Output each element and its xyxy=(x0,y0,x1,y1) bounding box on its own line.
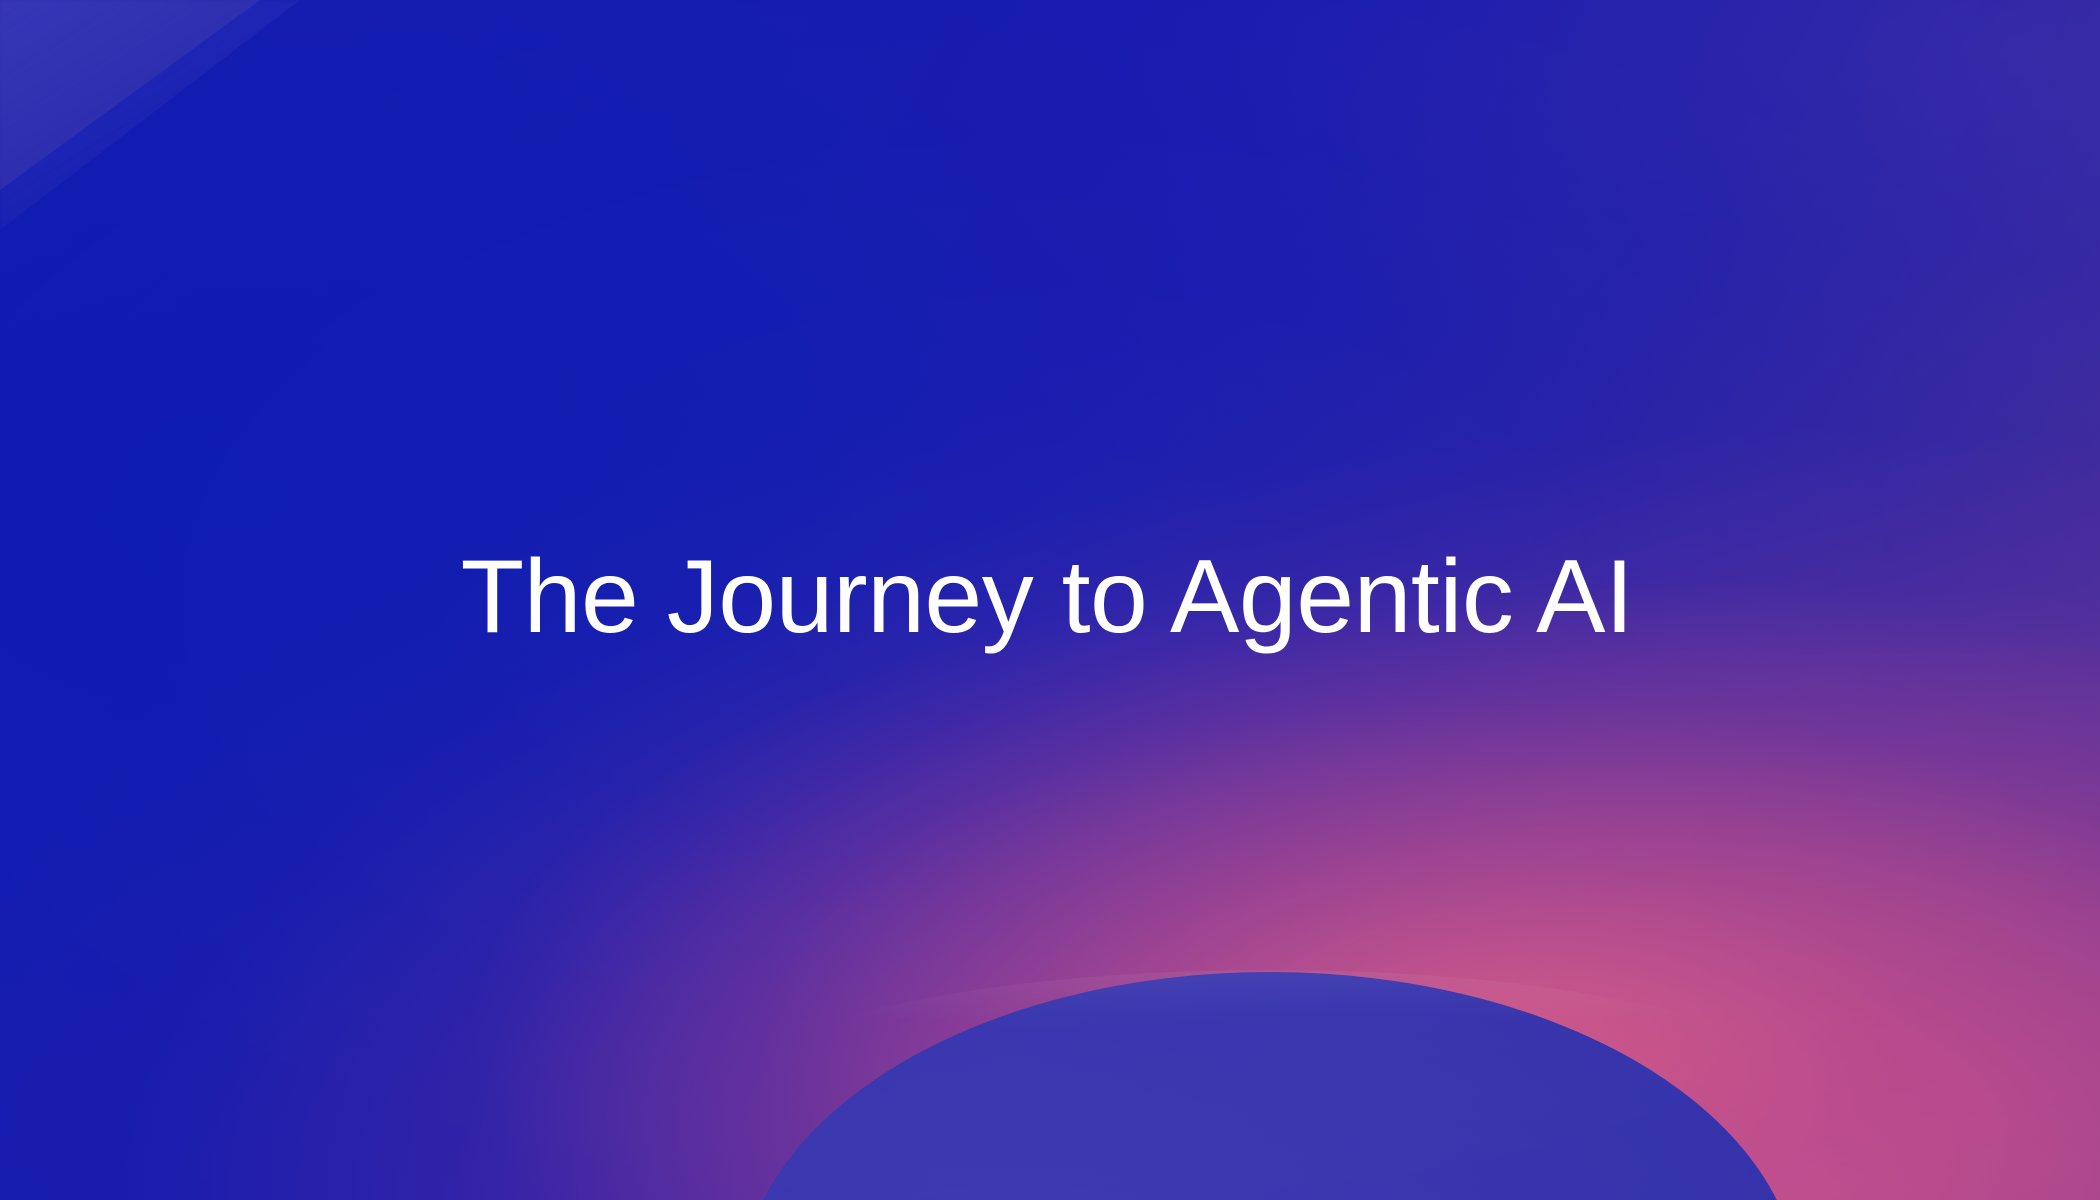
title-slide: The Journey to Agentic AI xyxy=(0,0,2100,1200)
title-container: The Journey to Agentic AI xyxy=(0,0,2100,1200)
slide-title: The Journey to Agentic AI xyxy=(461,543,1640,652)
